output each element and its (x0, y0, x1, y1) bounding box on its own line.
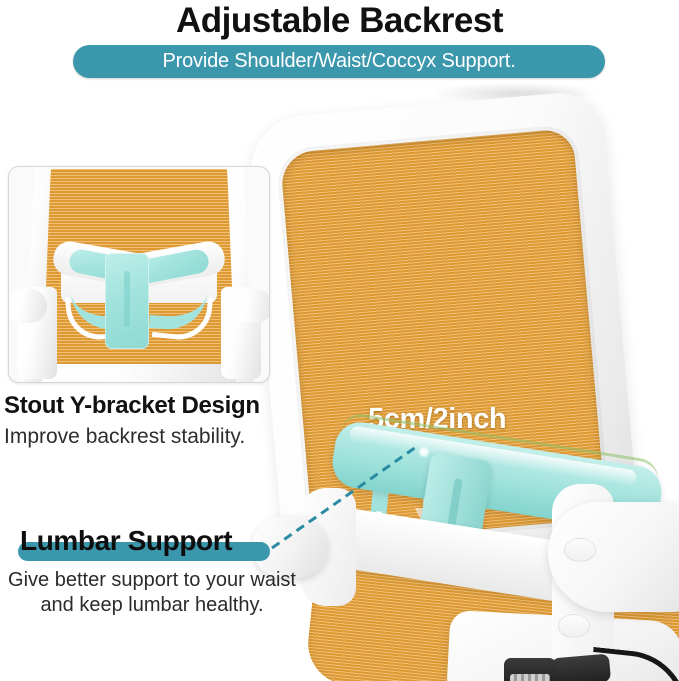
feature-title-lumbar-wrap: Lumbar Support (12, 524, 274, 560)
inset-mint-center-column (105, 253, 149, 349)
subtitle-text: Provide Shoulder/Waist/Coccyx Support. (163, 50, 516, 73)
armrest-screw-top (564, 538, 596, 562)
gas-cylinder-chrome (510, 674, 550, 681)
feature-body-y-bracket: Improve backrest stability. (4, 425, 245, 449)
feature-body-lumbar: Give better support to your waist and ke… (2, 568, 302, 618)
subtitle-pill: Provide Shoulder/Waist/Coccyx Support. (73, 45, 605, 78)
armrest-screw-bottom (558, 614, 590, 638)
y-bracket-scene (9, 167, 269, 382)
y-bracket-closeup-card (8, 166, 270, 383)
highlight-sparkle (418, 446, 430, 458)
inset-bottom-frame (35, 364, 243, 383)
feature-title-y-bracket: Stout Y-bracket Design (4, 392, 260, 420)
inset-knob-right (231, 289, 270, 323)
feature-title-lumbar: Lumbar Support (12, 524, 274, 558)
page-title: Adjustable Backrest (0, 2, 679, 40)
chair-illustration: 5cm/2inch (252, 96, 679, 681)
inset-knob-left (8, 289, 47, 323)
product-infographic: Adjustable Backrest Provide Shoulder/Wai… (0, 0, 679, 681)
